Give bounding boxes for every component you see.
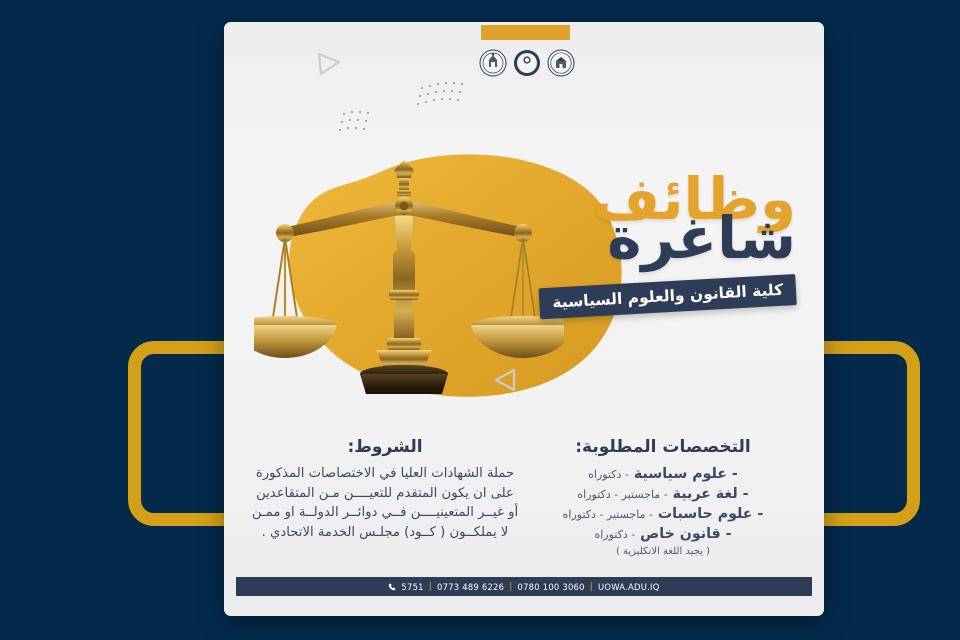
poster-card: وظائف شاغرة كلية القانون والعلوم السياسي…	[224, 22, 824, 616]
specialization-degrees: - ماجستير - دكتوراه	[563, 508, 653, 521]
gold-accent-tab	[481, 25, 570, 40]
specialization-field: - قانون خاص	[640, 526, 731, 542]
poster-stage: وظائف شاغرة كلية القانون والعلوم السياسي…	[0, 0, 960, 640]
specialization-field: - علوم حاسبات	[658, 506, 763, 522]
separator: |	[509, 582, 512, 592]
contact-info: 5751 | 0773 489 6226 | 0780 100 3060 | U…	[388, 582, 659, 592]
contact-phone-1[interactable]: 5751	[401, 582, 423, 592]
university-seal-logo-1	[479, 49, 507, 77]
university-seal-logo-2	[513, 49, 541, 77]
specialization-item: - علوم سياسية - دكتوراه	[524, 464, 802, 484]
specialization-item: - علوم حاسبات - ماجستير - دكتوراه	[524, 504, 802, 524]
specializations-note: ( يجيد اللغة الانكليزية )	[524, 546, 802, 557]
conditions-title: الشروط:	[246, 437, 524, 457]
specialization-field: - لغة عربية	[673, 486, 749, 502]
contact-website[interactable]: UOWA.ADU.IQ	[598, 582, 660, 592]
university-seal-logo-3	[547, 49, 575, 77]
contact-footer-bar: 5751 | 0773 489 6226 | 0780 100 3060 | U…	[236, 577, 812, 596]
separator: |	[429, 582, 432, 592]
conditions-column: الشروط: حملة الشهادات العليا في الاختصاص…	[246, 437, 524, 577]
headline-line-2: شاغرة	[496, 211, 796, 266]
phone-icon	[388, 583, 396, 591]
specialization-degrees: - دكتوراه	[594, 528, 635, 541]
condition-line: على ان يكون المتقدم للتعيــــن مـن المتق…	[246, 484, 524, 504]
specialization-degrees: - ماجستير - دكتوراه	[577, 488, 667, 501]
specialization-item: - قانون خاص - دكتوراه	[524, 524, 802, 544]
condition-line: أو غيــر المتعينيــــن فــي دوائــر الدو…	[246, 503, 524, 523]
specialization-field: - علوم سياسية	[634, 466, 738, 482]
content-columns: التخصصات المطلوبة: - علوم سياسية - دكتور…	[224, 437, 824, 577]
condition-line: لا يملكــون ( كــود) مجلـس الخدمة الاتحا…	[246, 523, 524, 543]
specialization-degrees: - دكتوراه	[588, 468, 629, 481]
headline-block: وظائف شاغرة كلية القانون والعلوم السياسي…	[496, 172, 796, 305]
condition-line: حملة الشهادات العليا في الاختصاصات المذك…	[246, 464, 524, 484]
contact-phone-2[interactable]: 0773 489 6226	[437, 582, 504, 592]
specializations-column: التخصصات المطلوبة: - علوم سياسية - دكتور…	[524, 437, 802, 577]
specializations-title: التخصصات المطلوبة:	[524, 437, 802, 457]
contact-phone-3[interactable]: 0780 100 3060	[518, 582, 585, 592]
separator: |	[590, 582, 593, 592]
logo-row	[479, 48, 575, 78]
specialization-item: - لغة عربية - ماجستير - دكتوراه	[524, 484, 802, 504]
